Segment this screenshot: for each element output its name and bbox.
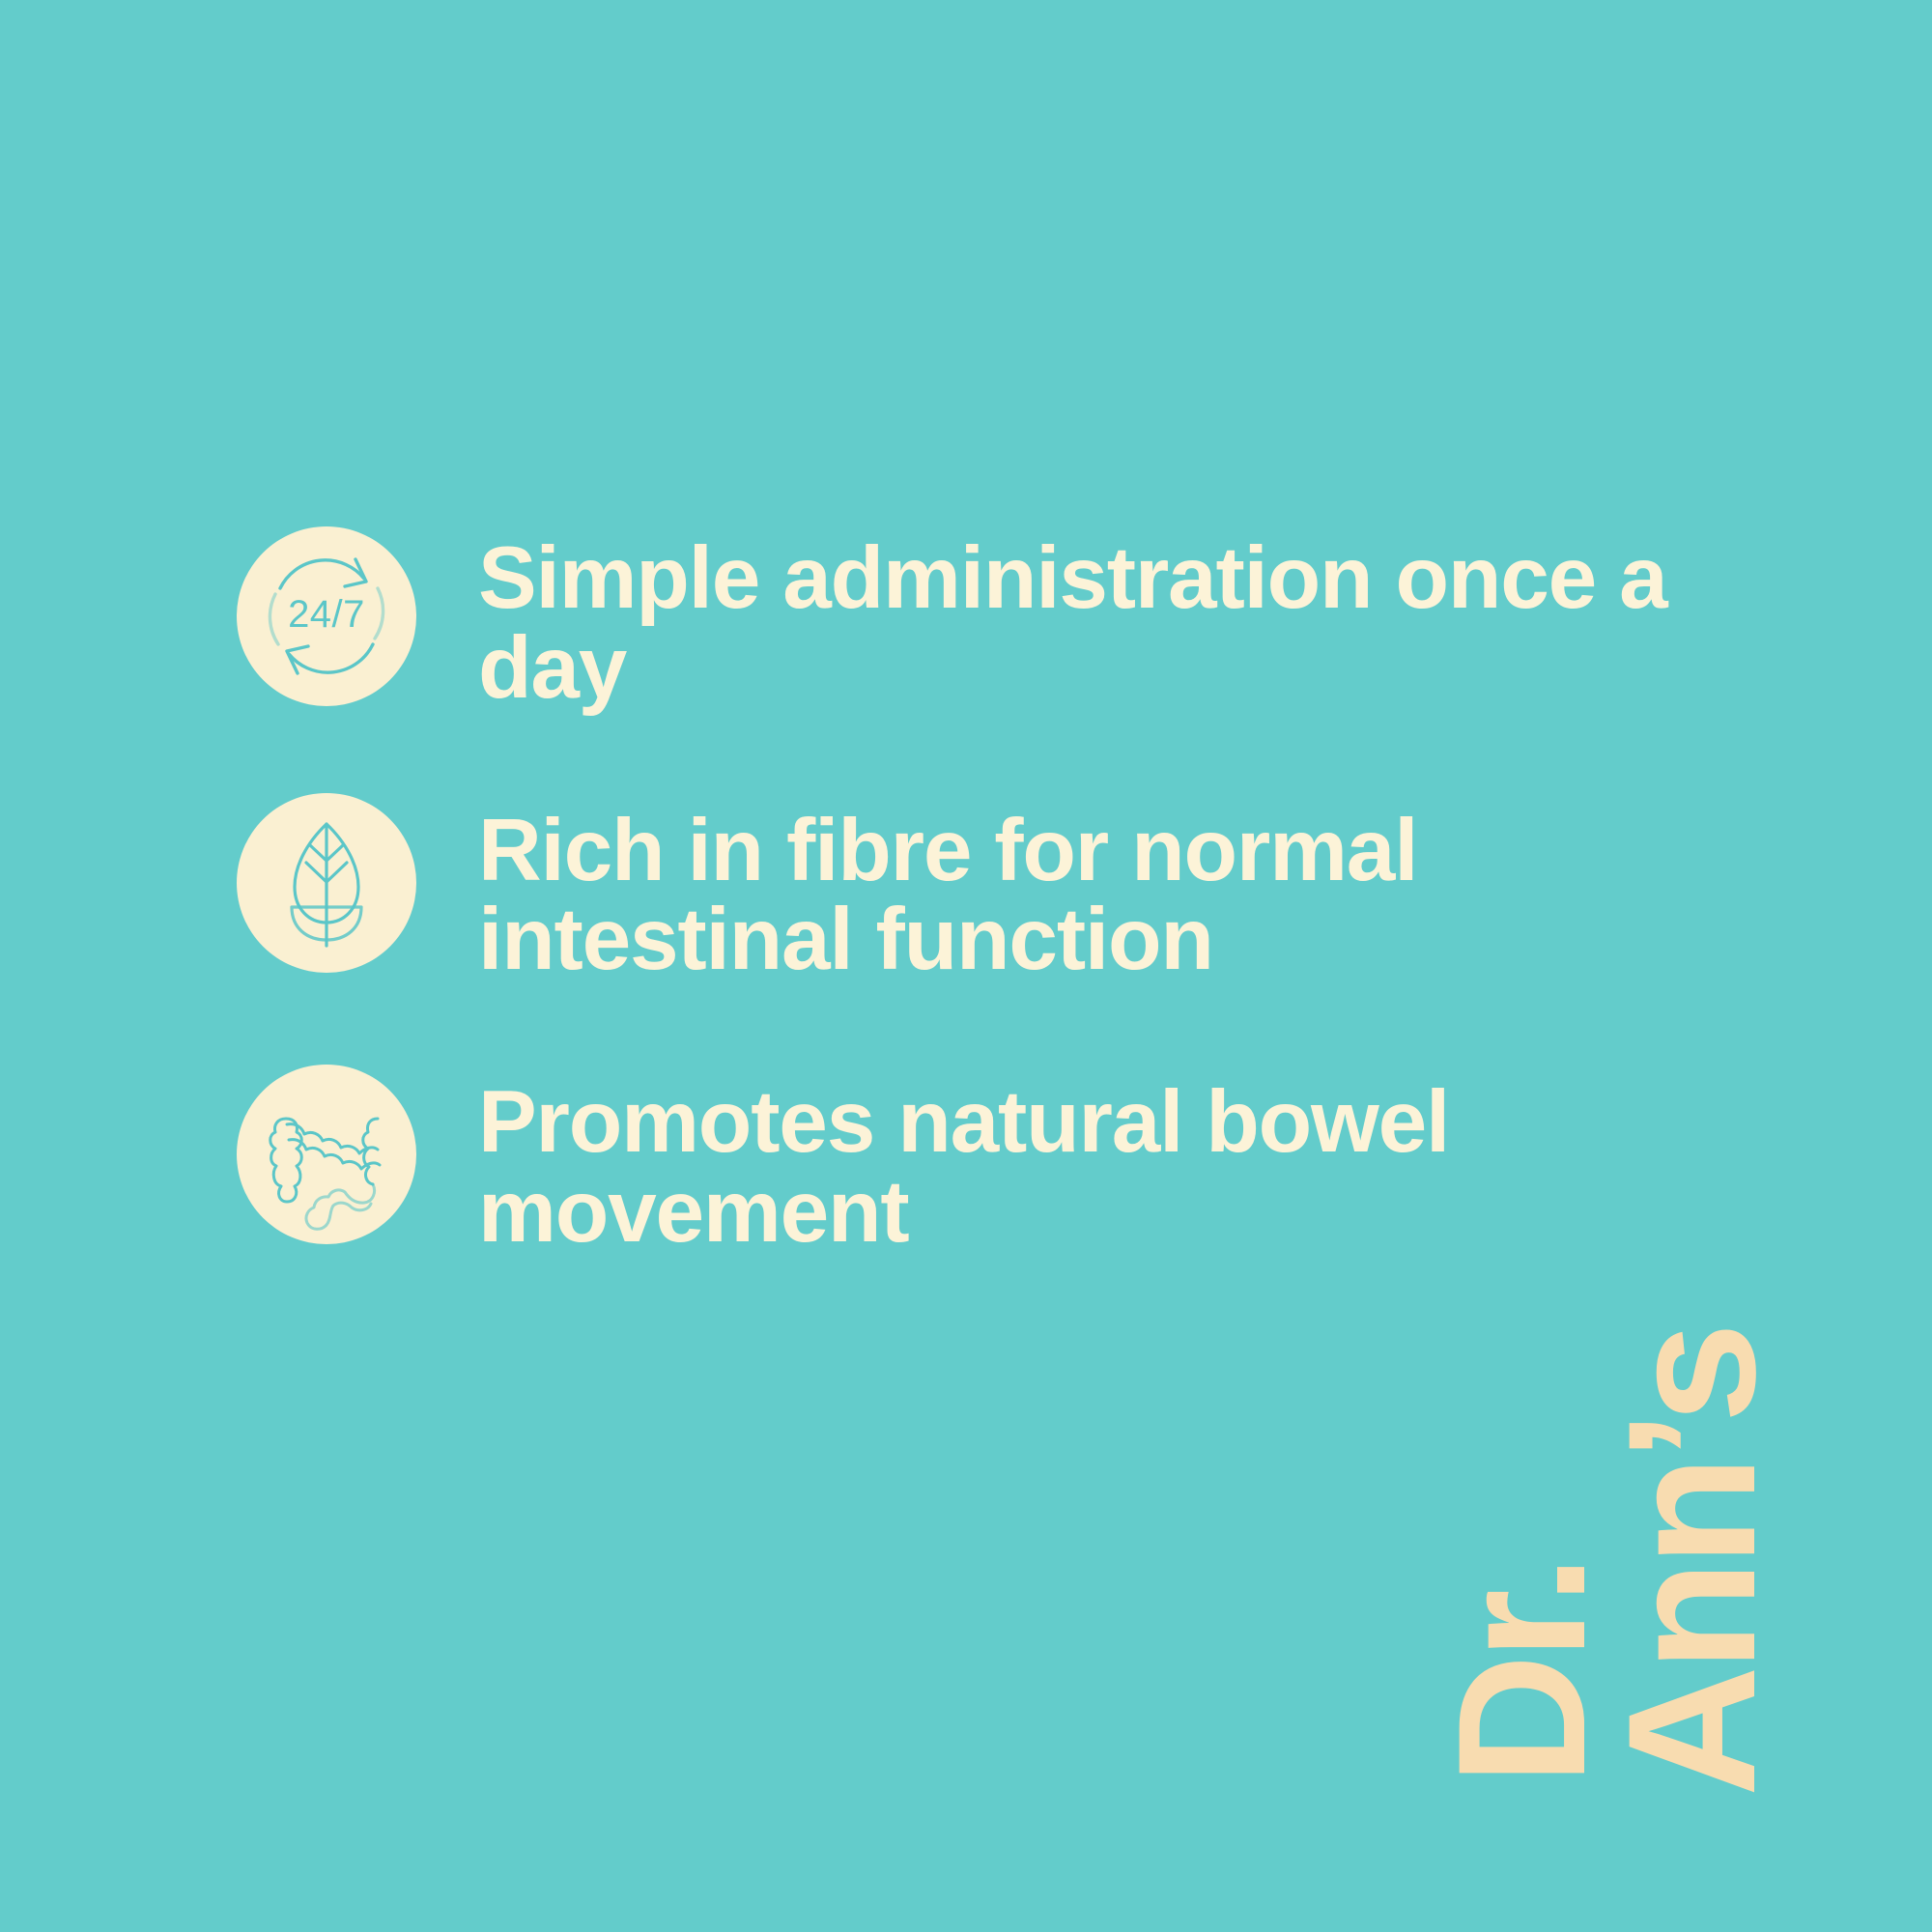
colon-intestine-icon-badge [237,1065,416,1244]
feature-text: Simple administration once a day [478,526,1676,714]
colon-intestine-icon [237,1065,416,1244]
24-7-cycle-icon: 24/7 [237,526,416,706]
leaf-icon [237,793,416,973]
feature-row: 24/7 Simple administration once a day [237,526,1686,714]
24-7-cycle-icon-badge: 24/7 [237,526,416,706]
leaf-icon-badge [237,793,416,973]
brand-logo-line-1: Dr. [1436,1560,1607,1797]
brand-logo: Dr. Ann’s [1101,1121,1777,1797]
feature-row: Rich in fibre for normal intestinal func… [237,793,1686,986]
feature-text: Rich in fibre for normal intestinal func… [478,793,1502,986]
brand-logo-line-2: Ann’s [1606,1328,1777,1797]
24-7-icon-label: 24/7 [288,593,365,636]
brand-logo-rotated: Dr. Ann’s [1101,1121,1777,1797]
